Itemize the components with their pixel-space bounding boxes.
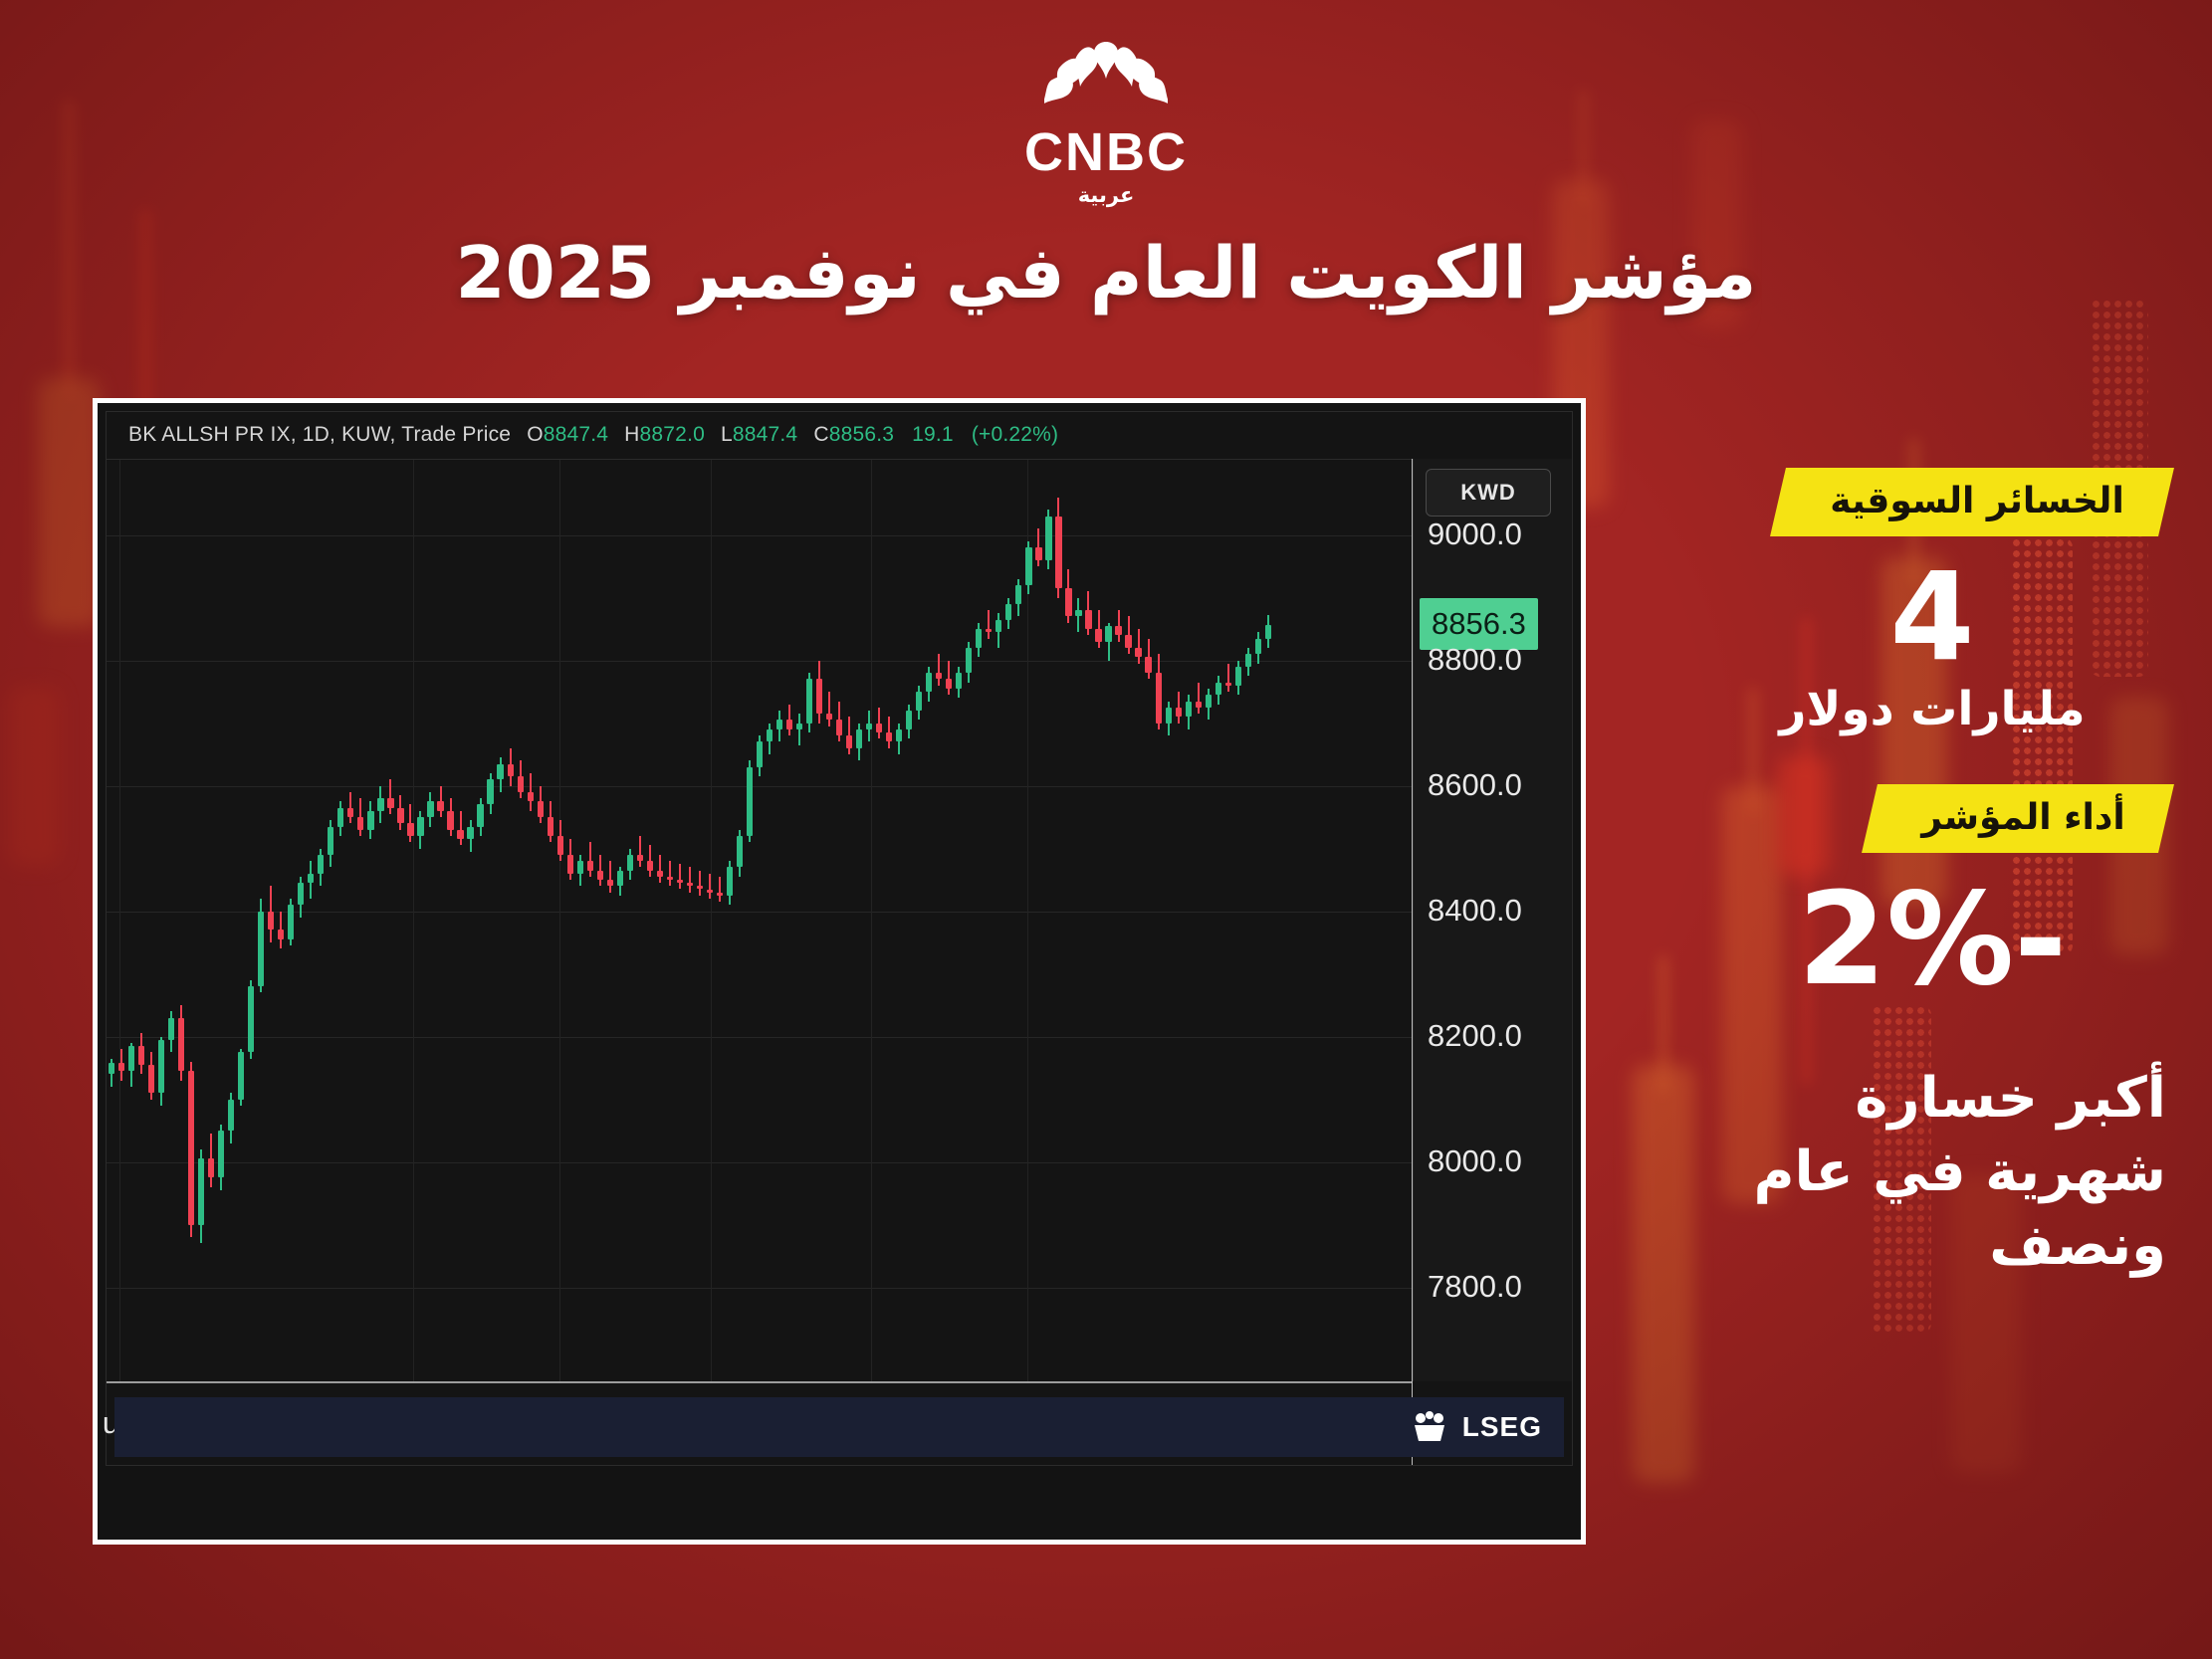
- candlestick: [995, 460, 1001, 1381]
- candlestick: [397, 460, 403, 1381]
- candlestick: [118, 460, 124, 1381]
- cnbc-arabic-wordmark: عربية: [0, 183, 2212, 207]
- candlestick: [447, 460, 453, 1381]
- candlestick: [697, 460, 703, 1381]
- candlestick: [1045, 460, 1051, 1381]
- candlestick: [357, 460, 363, 1381]
- candlestick: [757, 460, 763, 1381]
- candlestick: [776, 460, 782, 1381]
- candlestick: [1176, 460, 1182, 1381]
- candlestick: [538, 460, 544, 1381]
- candlestick: [497, 460, 503, 1381]
- candlestick: [268, 460, 274, 1381]
- candlestick: [1105, 460, 1111, 1381]
- candlestick: [826, 460, 832, 1381]
- candlestick: [1206, 460, 1212, 1381]
- candlestick: [966, 460, 972, 1381]
- candlestick: [727, 460, 733, 1381]
- currency-badge[interactable]: KWD: [1426, 469, 1551, 517]
- candlestick: [1025, 460, 1031, 1381]
- cnbc-wordmark: CNBC: [0, 125, 2212, 179]
- candlestick: [1216, 460, 1221, 1381]
- candlestick: [508, 460, 514, 1381]
- price-axis[interactable]: KWD 8856.3 9000.08800.08600.08400.08200.…: [1413, 459, 1572, 1381]
- candlestick: [308, 460, 314, 1381]
- candlestick: [577, 460, 583, 1381]
- candlestick: [1095, 460, 1101, 1381]
- candlestick: [228, 460, 234, 1381]
- candlestick: [896, 460, 902, 1381]
- candlestick: [1115, 460, 1121, 1381]
- candlestick: [128, 460, 134, 1381]
- price-tick-label: 8800.0: [1428, 642, 1522, 678]
- candlestick: [387, 460, 393, 1381]
- candlestick: [816, 460, 822, 1381]
- ticker-change: 19.1: [912, 423, 954, 447]
- candlestick: [457, 460, 463, 1381]
- page-title: مؤشر الكويت العام في نوفمبر 2025: [0, 231, 2212, 314]
- candlestick: [487, 460, 493, 1381]
- candlestick: [238, 460, 244, 1381]
- chart-inner: BK ALLSH PR IX, 1D, KUW, Trade Price O88…: [106, 411, 1573, 1466]
- candlestick: [1085, 460, 1091, 1381]
- candlestick: [318, 460, 324, 1381]
- candlestick: [417, 460, 423, 1381]
- candlestick: [707, 460, 713, 1381]
- nbc-peacock-icon: [1044, 34, 1168, 119]
- candlestick: [796, 460, 802, 1381]
- candlestick: [477, 460, 483, 1381]
- candlestick: [986, 460, 992, 1381]
- summary-note: أكبر خسارة شهرية في عام ونصف: [1698, 1062, 2166, 1283]
- candlestick: [278, 460, 284, 1381]
- candlestick: [806, 460, 812, 1381]
- candlestick: [1245, 460, 1251, 1381]
- candlestick: [407, 460, 413, 1381]
- candlestick: [337, 460, 343, 1381]
- index-performance-badge-label: أداء المؤشر: [1921, 797, 2124, 838]
- candlestick: [288, 460, 294, 1381]
- candlestick-series: [107, 460, 1413, 1381]
- candlestick: [1005, 460, 1011, 1381]
- candlestick: [178, 460, 184, 1381]
- candlestick: [767, 460, 773, 1381]
- candlestick: [198, 460, 204, 1381]
- ticker-legend: BK ALLSH PR IX, 1D, KUW, Trade Price O88…: [107, 412, 1572, 458]
- candlestick: [298, 460, 304, 1381]
- candlestick: [836, 460, 842, 1381]
- candlestick: [1166, 460, 1172, 1381]
- candlestick: [856, 460, 862, 1381]
- ticker-high: H8872.0: [624, 423, 705, 447]
- lseg-crest-icon: [1409, 1409, 1450, 1445]
- candlestick: [1196, 460, 1202, 1381]
- candlestick: [737, 460, 743, 1381]
- candlestick: [597, 460, 603, 1381]
- crosshair-vertical: [1412, 459, 1413, 1465]
- ticker-change-pct: (+0.22%): [972, 423, 1058, 447]
- price-tick-label: 8600.0: [1428, 767, 1522, 803]
- ticker-symbol: BK ALLSH PR IX, 1D, KUW, Trade Price: [128, 423, 511, 447]
- candlestick: [328, 460, 333, 1381]
- ticker-low: L8847.4: [721, 423, 797, 447]
- attribution-bar: LSEG: [114, 1397, 1564, 1457]
- candlestick: [518, 460, 524, 1381]
- candlestick: [158, 460, 164, 1381]
- candlestick: [846, 460, 852, 1381]
- index-performance-badge: أداء المؤشر: [1862, 784, 2174, 853]
- index-performance-value: -2%: [1698, 877, 2166, 1004]
- stats-rail: الخسائر السوقية 4 مليارات دولار أداء الم…: [1698, 468, 2166, 1283]
- price-tick-label: 8400.0: [1428, 893, 1522, 929]
- candlestick: [208, 460, 214, 1381]
- price-tick-label: 8000.0: [1428, 1143, 1522, 1179]
- candlestick: [976, 460, 982, 1381]
- candlestick: [1125, 460, 1131, 1381]
- candlestick: [148, 460, 154, 1381]
- candlestick: [1186, 460, 1192, 1381]
- candlestick: [1135, 460, 1141, 1381]
- lseg-wordmark: LSEG: [1462, 1411, 1542, 1443]
- candlestick: [1235, 460, 1241, 1381]
- candlestick: [1225, 460, 1231, 1381]
- market-loss-value: 4: [1698, 556, 2166, 678]
- ticker-open: O8847.4: [527, 423, 608, 447]
- candlestick: [1065, 460, 1071, 1381]
- candlestick: [258, 460, 264, 1381]
- candlestick: [916, 460, 922, 1381]
- candlestick: [677, 460, 683, 1381]
- candlestick: [627, 460, 633, 1381]
- candlestick: [109, 460, 114, 1381]
- candlestick: [1156, 460, 1162, 1381]
- candlestick: [188, 460, 194, 1381]
- candlestick: [1015, 460, 1021, 1381]
- candlestick: [687, 460, 693, 1381]
- candlestick: [956, 460, 962, 1381]
- price-tick-label: 9000.0: [1428, 517, 1522, 552]
- candlestick: [1075, 460, 1081, 1381]
- candlestick: [557, 460, 563, 1381]
- candlestick: [1265, 460, 1271, 1381]
- price-tick-label: 8200.0: [1428, 1018, 1522, 1054]
- candlestick: [138, 460, 144, 1381]
- candlestick: [248, 460, 254, 1381]
- candlestick: [886, 460, 892, 1381]
- candlestick: [567, 460, 573, 1381]
- candlestick: [218, 460, 224, 1381]
- candlestick: [747, 460, 753, 1381]
- candlestick: [1035, 460, 1041, 1381]
- candlestick: [607, 460, 613, 1381]
- candlestick: [657, 460, 663, 1381]
- candlestick: [786, 460, 792, 1381]
- candlestick: [587, 460, 593, 1381]
- candlestick: [467, 460, 473, 1381]
- candlestick: [926, 460, 932, 1381]
- market-loss-badge: الخسائر السوقية: [1770, 468, 2173, 536]
- candlestick: [946, 460, 952, 1381]
- candlestick: [347, 460, 353, 1381]
- candlestick: [367, 460, 373, 1381]
- candlestick: [548, 460, 553, 1381]
- candlestick: [1145, 460, 1151, 1381]
- candlestick: [637, 460, 643, 1381]
- candlestick: [168, 460, 174, 1381]
- market-loss-badge-label: الخسائر السوقية: [1831, 481, 2125, 521]
- candlestick: [876, 460, 882, 1381]
- candlestick: [528, 460, 534, 1381]
- ticker-close: C8856.3: [813, 423, 894, 447]
- market-loss-unit: مليارات دولار: [1698, 682, 2166, 736]
- candlestick: [647, 460, 653, 1381]
- brand-logo: CNBC عربية: [0, 34, 2212, 207]
- chart-panel: BK ALLSH PR IX, 1D, KUW, Trade Price O88…: [93, 398, 1586, 1545]
- price-tick-label: 7800.0: [1428, 1269, 1522, 1305]
- candlestick: [1255, 460, 1261, 1381]
- candlestick: [427, 460, 433, 1381]
- candlestick: [1055, 460, 1061, 1381]
- candlestick: [437, 460, 443, 1381]
- candlestick: [717, 460, 723, 1381]
- candlestick: [667, 460, 673, 1381]
- candlestick: [617, 460, 623, 1381]
- candlestick: [936, 460, 942, 1381]
- candlestick: [377, 460, 383, 1381]
- candlestick: [866, 460, 872, 1381]
- plot-area: [107, 459, 1413, 1381]
- candlestick: [906, 460, 912, 1381]
